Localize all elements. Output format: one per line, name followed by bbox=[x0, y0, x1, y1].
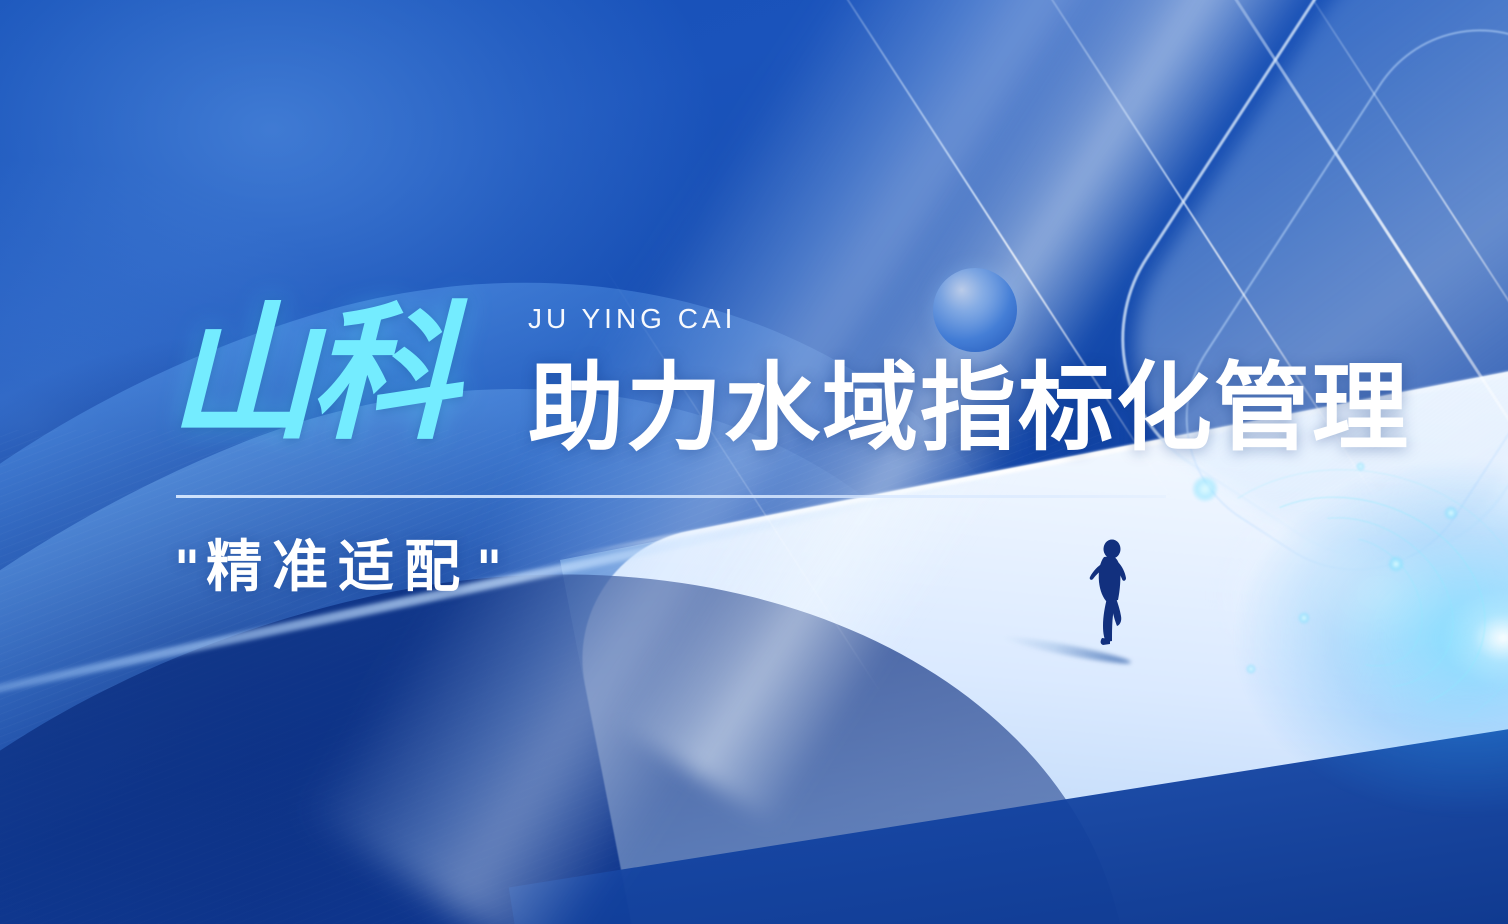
subtitle: "精准适配" bbox=[168, 540, 508, 596]
divider bbox=[176, 495, 1166, 498]
quote-open-mark: " bbox=[168, 540, 206, 598]
banner-content: 山科 JU YING CAI 助力水域指标化管理 "精准适配" bbox=[0, 0, 1508, 924]
page-title: 助力水域指标化管理 bbox=[528, 358, 1410, 460]
promo-banner: 山科 JU YING CAI 助力水域指标化管理 "精准适配" bbox=[0, 0, 1508, 924]
brand-logo-wordmark: 山科 bbox=[168, 300, 452, 448]
subtitle-text: 精准适配 bbox=[206, 535, 470, 600]
quote-close-mark: " bbox=[470, 540, 508, 598]
brand-pinyin-label: JU YING CAI bbox=[528, 305, 736, 333]
